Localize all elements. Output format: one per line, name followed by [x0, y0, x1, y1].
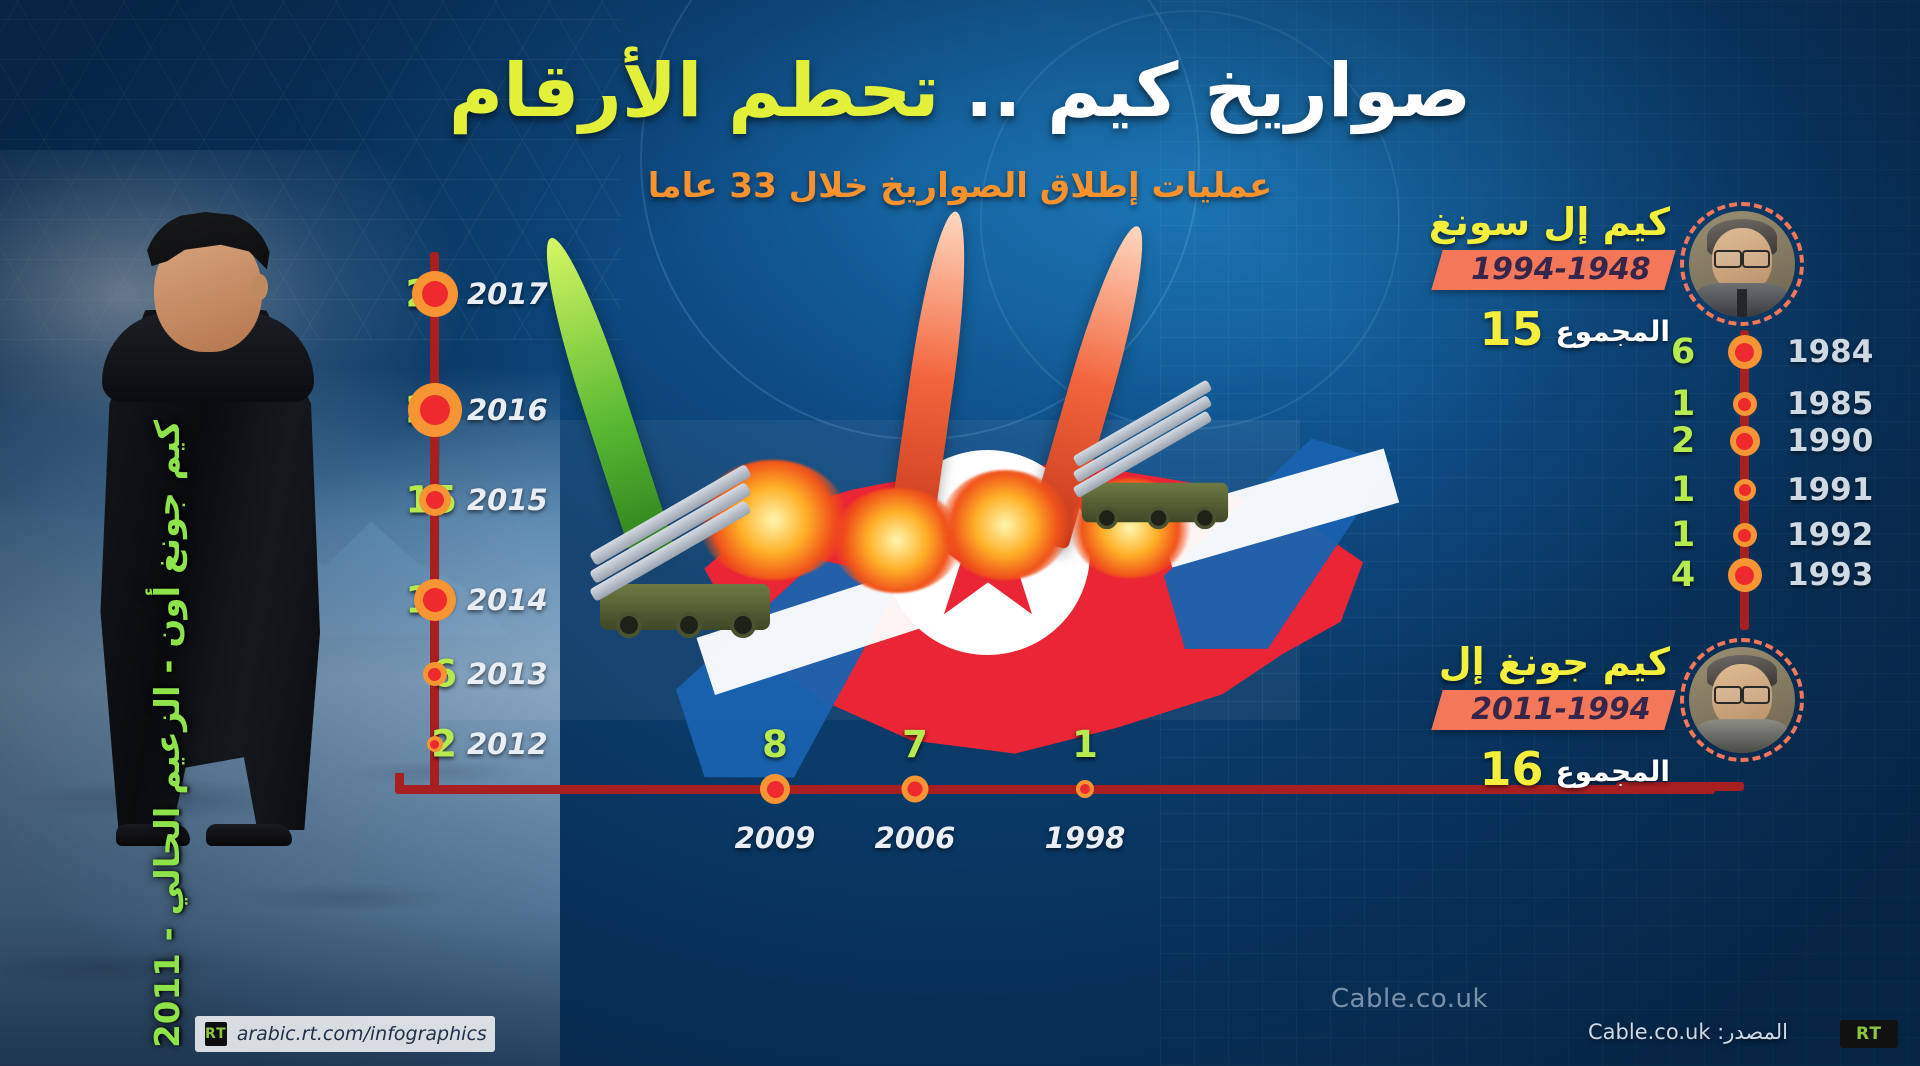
portrait-frame — [1689, 211, 1795, 317]
missile-launcher-right — [1073, 428, 1236, 523]
leader-card-kim-jong-il: كيم جونغ إل 2011-1994 المجموع16 — [1370, 640, 1670, 796]
title-white-part: صواريخ كيم — [1047, 48, 1471, 134]
timeline-value: 7 — [902, 723, 928, 766]
timeline-dot[interactable] — [1733, 392, 1757, 416]
timeline-dot-core — [1735, 566, 1754, 585]
timeline-elbow-left — [395, 773, 404, 787]
timeline-value: 8 — [762, 723, 788, 766]
timeline-dot[interactable] — [412, 271, 458, 317]
timeline-value: 4 — [1671, 555, 1695, 595]
timeline-dot[interactable] — [1076, 780, 1094, 798]
timeline-value: 2 — [1671, 421, 1695, 461]
timeline-dot-core — [1738, 398, 1751, 411]
portrait-tie — [1737, 289, 1748, 317]
timeline-dot-core — [1736, 433, 1753, 450]
timeline-year: 2014 — [467, 583, 548, 617]
timeline-dot-core — [1080, 784, 1090, 794]
timeline-year: 2009 — [735, 821, 816, 855]
launcher-wheel-2 — [676, 612, 702, 638]
timeline-dot[interactable] — [414, 579, 456, 621]
timeline-kim-jong-il: 820097200611998 — [395, 785, 1715, 885]
timeline-kim-jong-un: 2020172420161520151920146201322012 — [395, 252, 625, 792]
launcher-wheel-3 — [730, 612, 756, 638]
timeline-year: 1998 — [1045, 821, 1126, 855]
glasses-icon — [1714, 686, 1769, 700]
timeline-dot-core — [420, 395, 450, 425]
timeline-dot[interactable] — [419, 484, 451, 516]
footer-url-bar[interactable]: RT arabic.rt.com/infographics — [195, 1016, 495, 1052]
timeline-dot[interactable] — [1728, 335, 1762, 369]
blast-center — [940, 470, 1070, 580]
timeline-year: 2016 — [467, 393, 548, 427]
leader-years-badge: 1994-1948 — [1431, 250, 1676, 290]
source-brand-text: Cable.co.uk — [1331, 984, 1488, 1014]
timeline-dot-core — [426, 491, 444, 509]
portrait-face — [1689, 211, 1795, 317]
rt-logo-icon: RT — [205, 1022, 227, 1046]
portrait-body — [1697, 719, 1786, 753]
timeline-value: 1 — [1072, 723, 1098, 766]
timeline-year: 1985 — [1787, 386, 1873, 422]
ear-shape — [252, 274, 268, 300]
timeline-dot-core — [1735, 343, 1754, 362]
timeline-dot[interactable] — [1728, 558, 1762, 592]
timeline-year: 1993 — [1787, 557, 1873, 593]
timeline-year: 1990 — [1787, 423, 1873, 459]
timeline-year: 1992 — [1787, 517, 1873, 553]
timeline-dot-core — [908, 782, 923, 797]
leader-card-kim-il-sung: كيم إل سونغ 1994-1948 المجموع15 — [1370, 200, 1670, 356]
leader-name: كيم إل سونغ — [1370, 200, 1670, 244]
kim-il-sung-portrait — [1680, 202, 1804, 326]
footer-site-url[interactable]: arabic.rt.com/infographics — [237, 1023, 487, 1045]
launcher-wheel-2 — [1147, 507, 1169, 529]
glasses-icon — [1714, 250, 1769, 264]
timeline-dot[interactable] — [408, 383, 462, 437]
timeline-year: 1984 — [1787, 334, 1873, 370]
timeline-value: 1 — [1671, 384, 1695, 424]
timeline-dot[interactable] — [423, 662, 447, 686]
leader-total-row: المجموع16 — [1370, 742, 1670, 796]
portrait-frame — [1689, 647, 1795, 753]
launcher-wheel-3 — [1194, 507, 1216, 529]
timeline-dot[interactable] — [760, 774, 790, 804]
leader-years-badge: 2011-1994 — [1431, 690, 1676, 730]
page-title: صواريخ كيم .. تحطم الأرقام — [0, 54, 1920, 128]
timeline-dot-core — [428, 668, 441, 681]
timeline-year: 2013 — [467, 657, 548, 691]
source-label: المصدر: Cable.co.uk — [1588, 1020, 1788, 1044]
kim-jong-un-caption: كيم جونغ أون - الزعيم الحالي - 2011 — [148, 420, 188, 1048]
timeline-axis-vertical-left — [430, 252, 439, 792]
north-korea-map-illustration — [640, 270, 1420, 790]
total-value: 16 — [1479, 742, 1543, 796]
portrait-face — [1689, 647, 1795, 753]
total-value: 15 — [1479, 302, 1543, 356]
launcher-wheel-1 — [1096, 507, 1118, 529]
timeline-value: 6 — [1671, 332, 1695, 372]
title-separator: .. — [939, 48, 1047, 134]
timeline-year: 2017 — [467, 277, 548, 311]
timeline-dot[interactable] — [1730, 426, 1760, 456]
timeline-dot[interactable] — [1734, 479, 1756, 501]
total-label: المجموع — [1555, 755, 1670, 788]
leader-total-row: المجموع15 — [1370, 302, 1670, 356]
timeline-value: 1 — [1671, 470, 1695, 510]
timeline-dot-core — [1739, 484, 1751, 496]
infographic-canvas: RT كيم جونغ أون - الزعيم الحالي - 2011 ص… — [0, 0, 1920, 1066]
timeline-dot-core — [423, 588, 447, 612]
timeline-dot-core — [767, 781, 784, 798]
leader-name: كيم جونغ إل — [1370, 640, 1670, 684]
timeline-year: 2015 — [467, 483, 548, 517]
kim-jong-il-portrait — [1680, 638, 1804, 762]
timeline-dot[interactable] — [427, 736, 443, 752]
timeline-dot-core — [422, 281, 448, 307]
timeline-dot-core — [430, 740, 439, 749]
timeline-year: 2012 — [467, 727, 548, 761]
right-shoe — [206, 824, 292, 846]
timeline-dot[interactable] — [902, 776, 929, 803]
timeline-year: 1991 — [1787, 472, 1873, 508]
timeline-value: 1 — [1671, 515, 1695, 555]
kim-jong-un-figure — [78, 200, 338, 840]
timeline-year: 2006 — [875, 821, 956, 855]
title-highlight-part: تحطم الأرقام — [449, 48, 940, 134]
total-label: المجموع — [1555, 315, 1670, 348]
timeline-dot-core — [1738, 529, 1751, 542]
timeline-dot[interactable] — [1733, 523, 1757, 547]
rt-corner-logo-icon: RT — [1840, 1020, 1898, 1048]
